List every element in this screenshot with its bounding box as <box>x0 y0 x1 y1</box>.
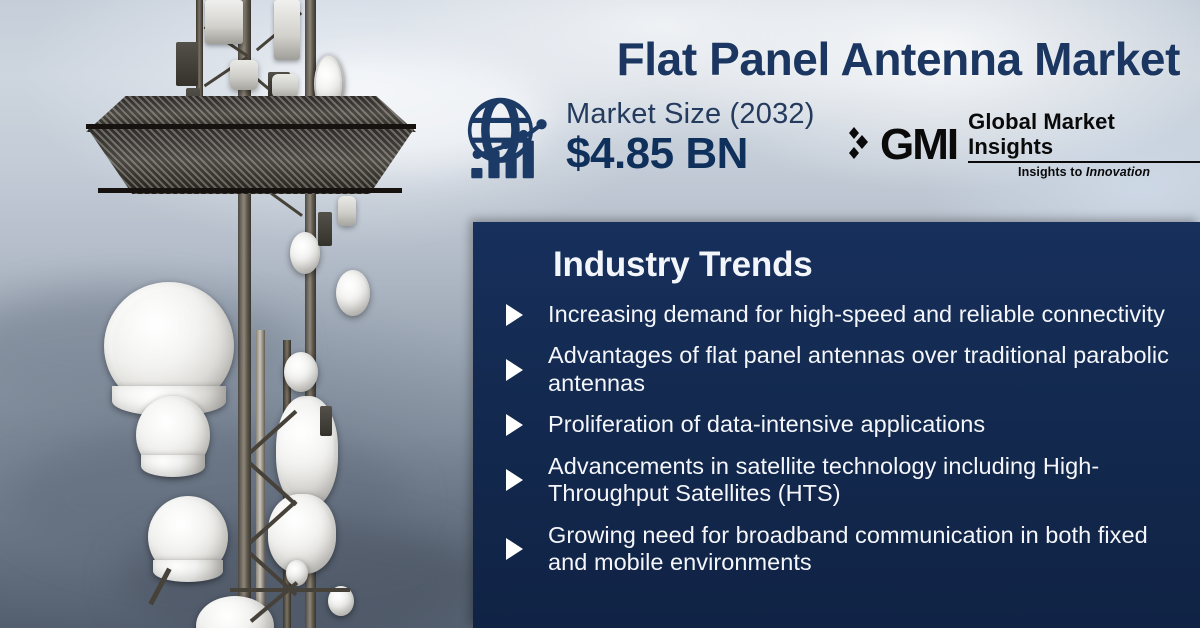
list-item: Advancements in satellite technology inc… <box>473 453 1200 508</box>
list-item: Proliferation of data-intensive applicat… <box>473 411 1200 438</box>
diamond-cluster-icon <box>849 121 871 169</box>
market-size-label: Market Size (2032) <box>566 99 815 130</box>
triangle-right-icon <box>506 414 523 436</box>
triangle-right-icon <box>506 469 523 491</box>
triangle-right-icon <box>506 538 523 560</box>
list-item-text: Increasing demand for high-speed and rel… <box>548 301 1165 328</box>
microwave-dish <box>290 232 320 274</box>
page-title: Flat Panel Antenna Market <box>460 32 1180 86</box>
infographic-canvas: Flat Panel Antenna Market Market Size (2… <box>0 0 1200 628</box>
gmi-tagline-emphasis: Innovation <box>1086 165 1150 179</box>
market-size-block: Market Size (2032) $4.85 BN <box>466 96 815 180</box>
microwave-dish <box>284 352 318 392</box>
microwave-dish <box>230 60 258 90</box>
gmi-mark: GMI <box>880 123 957 167</box>
trends-heading: Industry Trends <box>553 245 1200 285</box>
list-item: Increasing demand for high-speed and rel… <box>473 301 1200 328</box>
globe-bar-chart-icon <box>466 96 552 180</box>
equipment-box <box>318 212 332 246</box>
tower-mast <box>238 0 251 628</box>
microwave-dish <box>336 270 370 316</box>
equipment-box <box>320 406 332 436</box>
list-item-text: Growing need for broadband communication… <box>548 522 1174 577</box>
industry-trends-panel: Industry Trends Increasing demand for hi… <box>473 222 1200 628</box>
list-item-text: Advancements in satellite technology inc… <box>548 453 1174 508</box>
gmi-wordmark: Global Market Insights Insights to Innov… <box>968 110 1200 179</box>
platform-edge <box>86 124 416 129</box>
gmi-tagline-prefix: Insights to <box>1018 165 1086 179</box>
gmi-company-name: Global Market Insights <box>968 110 1200 159</box>
gmi-tagline: Insights to Innovation <box>968 165 1200 179</box>
platform-edge <box>98 188 402 193</box>
market-size-value: $4.85 BN <box>566 130 815 178</box>
tower-platform <box>86 126 416 194</box>
market-size-text: Market Size (2032) $4.85 BN <box>566 99 815 178</box>
equipment-box <box>176 42 198 86</box>
telecom-tower-photo <box>0 0 472 628</box>
tower-crossbar <box>230 588 350 592</box>
triangle-right-icon <box>506 359 523 381</box>
microwave-dish <box>141 455 205 477</box>
microwave-dish <box>272 74 298 98</box>
list-item: Advantages of flat panel antennas over t… <box>473 342 1200 397</box>
gmi-logo[interactable]: GMI Global Market Insights Insights to I… <box>849 110 1200 179</box>
microwave-dish <box>338 196 356 226</box>
gmi-divider <box>968 161 1200 163</box>
panel-antenna <box>274 0 300 60</box>
trends-list: Increasing demand for high-speed and rel… <box>473 301 1200 577</box>
panel-antenna <box>205 0 243 44</box>
list-item: Growing need for broadband communication… <box>473 522 1200 577</box>
list-item-text: Proliferation of data-intensive applicat… <box>548 411 985 438</box>
list-item-text: Advantages of flat panel antennas over t… <box>548 342 1174 397</box>
triangle-right-icon <box>506 304 523 326</box>
